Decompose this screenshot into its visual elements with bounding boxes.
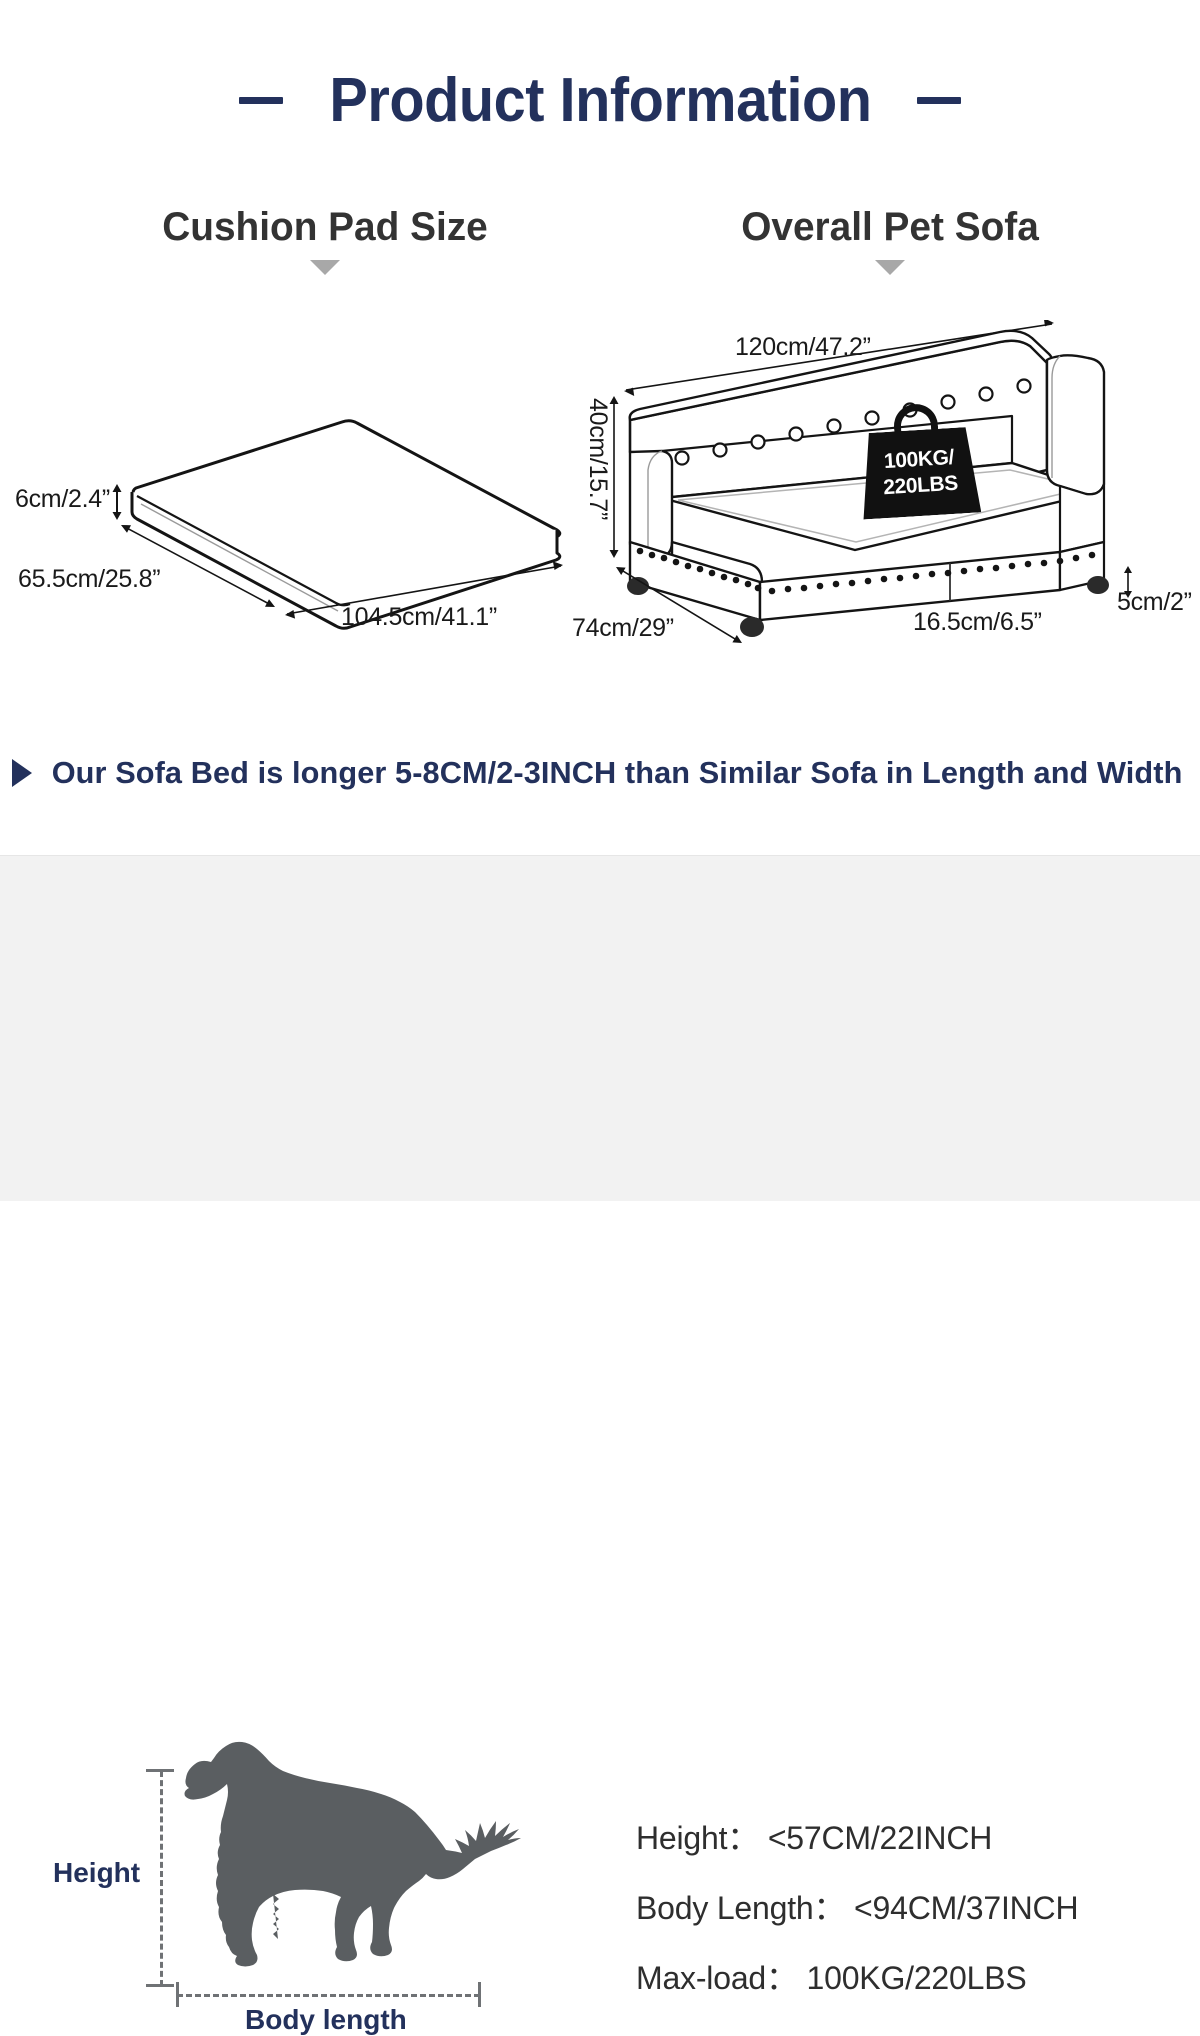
cushion-pad-illustration <box>95 400 585 630</box>
cushion-depth-label: 65.5cm/25.8” <box>18 565 160 594</box>
section-header-sofa-label: Overall Pet Sofa <box>667 205 1113 250</box>
title-dash-left <box>239 97 283 104</box>
spec-row-max-load: Max-load： 100KG/220LBS <box>636 1953 1176 1999</box>
section-header-cushion-label: Cushion Pad Size <box>112 205 539 250</box>
dog-height-dimension-line <box>160 1771 163 1986</box>
highlight-banner: Our Sofa Bed is longer 5-8CM/2-3INCH tha… <box>0 742 1200 804</box>
spec-row-height: Height： <57CM/22INCH <box>636 1813 1176 1859</box>
dog-body-length-dimension-line <box>177 1994 480 1997</box>
spec-key-body-length: Body Length： <box>636 1890 845 1926</box>
sofa-height-label: 40cm/15.7” <box>583 398 612 520</box>
triangle-right-icon <box>12 759 32 787</box>
cushion-thickness-label: 6cm/2.4” <box>15 485 110 514</box>
spec-value-max-load: 100KG/220LBS <box>807 1960 1027 1996</box>
weight-bag-body: 100KG/ 220LBS <box>858 426 981 519</box>
weight-bag-icon: 100KG/ 220LBS <box>857 401 982 520</box>
highlight-banner-text: Our Sofa Bed is longer 5-8CM/2-3INCH tha… <box>52 755 1183 791</box>
triangle-down-icon <box>875 260 905 275</box>
spec-row-body-length: Body Length： <94CM/37INCH <box>636 1883 1176 1929</box>
dog-height-cap-top <box>146 1769 174 1772</box>
triangle-down-icon <box>310 260 340 275</box>
sofa-width-label: 120cm/47.2” <box>735 333 871 362</box>
title-dash-right <box>917 97 961 104</box>
dog-height-label: Height <box>53 1857 140 1889</box>
section-header-cushion: Cushion Pad Size <box>105 205 545 275</box>
sofa-leg-height-label: 5cm/2” <box>1117 588 1192 617</box>
spec-value-body-length: <94CM/37INCH <box>854 1890 1078 1926</box>
page-title: Product Information <box>329 65 871 136</box>
sofa-base-height-label: 16.5cm/6.5” <box>913 608 1042 637</box>
cushion-length-label: 104.5cm/41.1” <box>341 603 497 632</box>
dog-body-length-label: Body length <box>245 2004 407 2036</box>
dog-height-cap-bottom <box>146 1984 174 1987</box>
dog-size-guide-panel: Height Body length Height： <57CM/22INCH … <box>0 855 1200 1201</box>
dog-body-length-cap-left <box>176 1982 179 2007</box>
spec-key-height: Height： <box>636 1820 759 1856</box>
spec-value-height: <57CM/22INCH <box>768 1820 992 1856</box>
section-header-sofa: Overall Pet Sofa <box>660 205 1120 275</box>
spec-key-max-load: Max-load： <box>636 1960 798 1996</box>
sofa-depth-label: 74cm/29” <box>572 614 674 643</box>
dog-body-length-cap-right <box>478 1982 481 2007</box>
dog-silhouette-icon <box>165 1728 525 1983</box>
product-information-panel: Product Information Cushion Pad Size Ove… <box>0 0 1200 855</box>
page-title-row: Product Information <box>0 55 1200 145</box>
dog-spec-list: Height： <57CM/22INCH Body Length： <94CM/… <box>636 1813 1176 1999</box>
weight-lbs-label: 220LBS <box>883 471 959 501</box>
